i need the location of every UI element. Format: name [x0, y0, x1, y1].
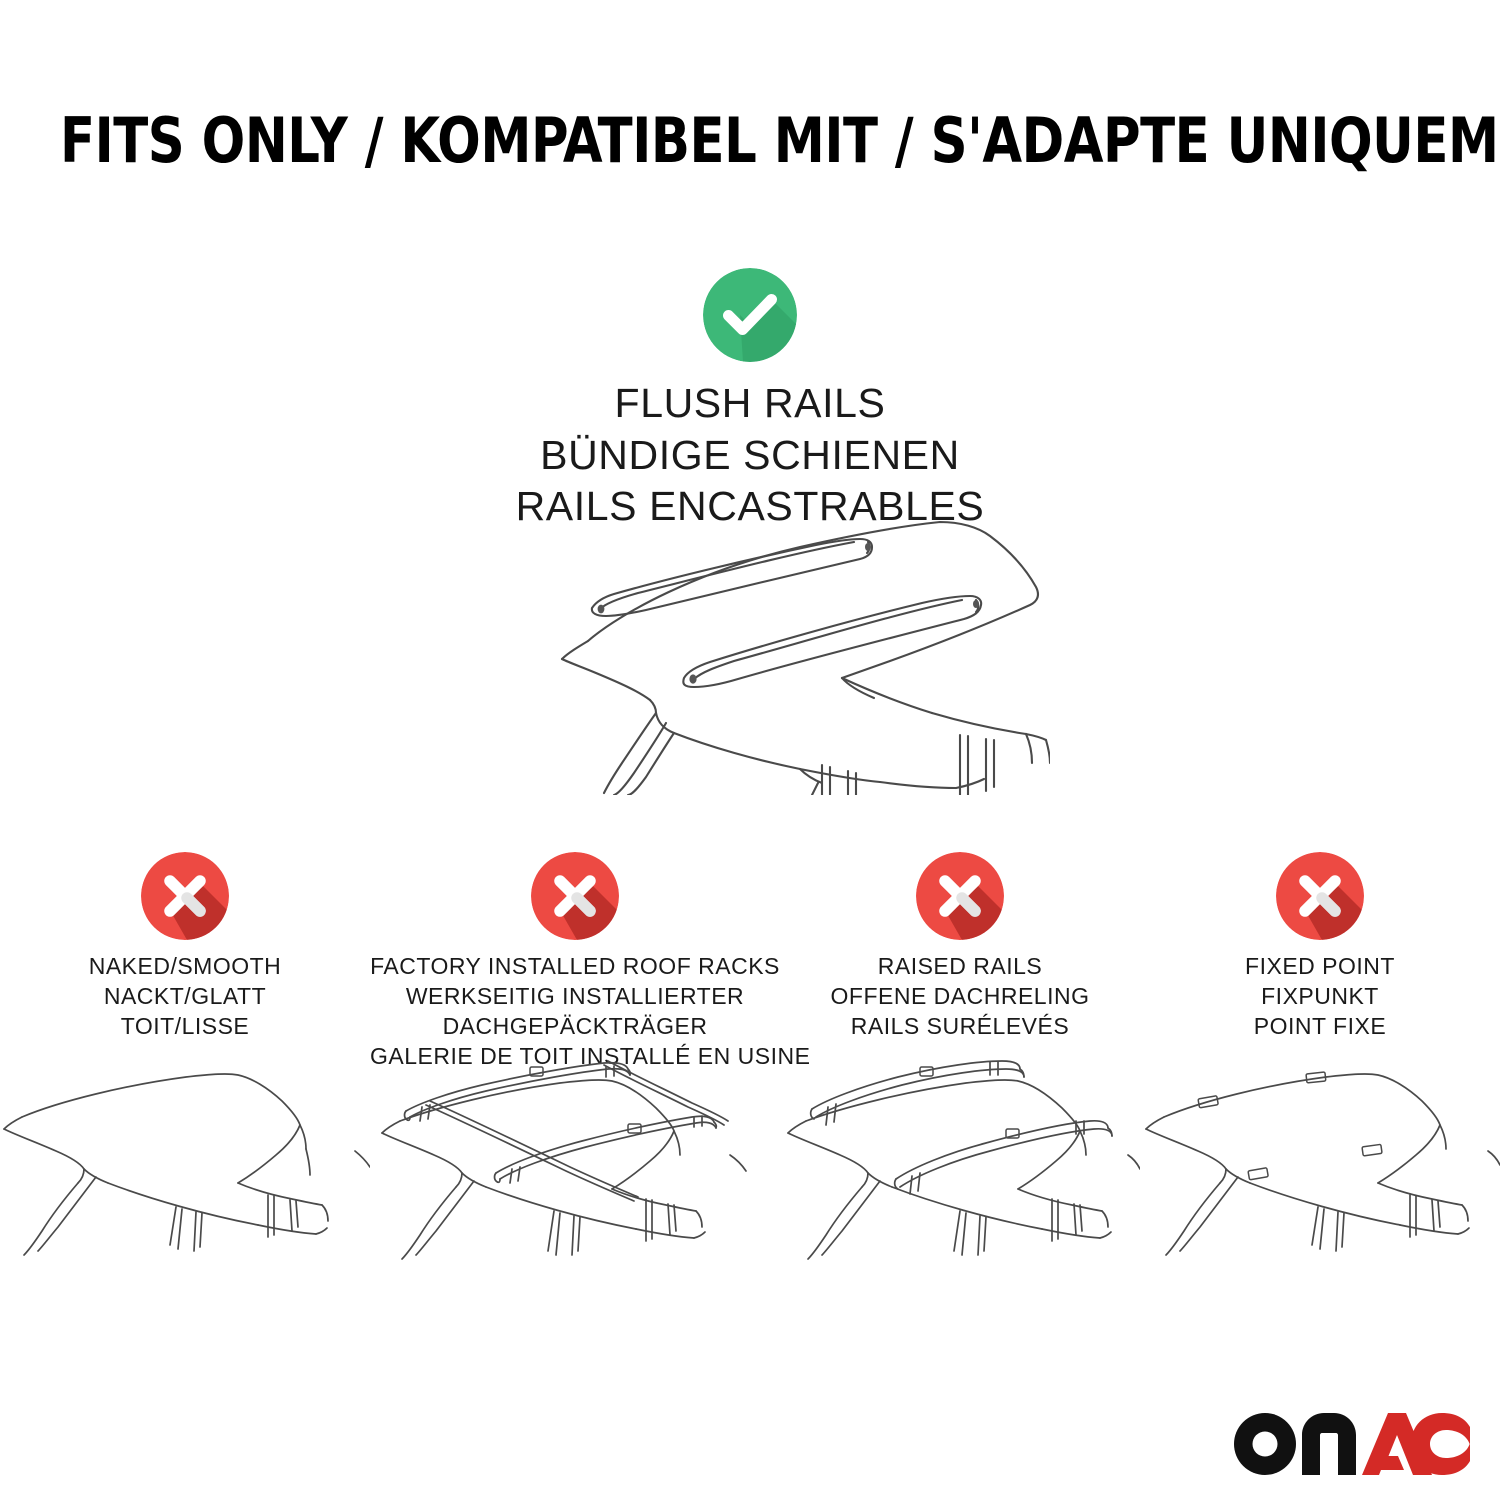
x-circle-icon — [141, 852, 229, 940]
x-circle-icon — [916, 852, 1004, 940]
logo-letter-c — [1411, 1413, 1470, 1475]
label-line: TOIT/LISSE — [0, 1012, 370, 1042]
incompatible-column-raised-rails: RAISED RAILS OFFENE DACHRELING RAILS SUR… — [780, 852, 1140, 1042]
label-line: RAILS SURÉLEVÉS — [780, 1012, 1140, 1042]
x-circle-icon — [1276, 852, 1364, 940]
label-line: NACKT/GLATT — [0, 982, 370, 1012]
label-line: FIXPUNKT — [1140, 982, 1500, 1012]
incompatible-illustration-row — [0, 1055, 1500, 1280]
x-circle-svg — [141, 852, 229, 940]
car-roof-naked-smooth-illustration — [0, 1055, 370, 1280]
car-roof-flush-rails-svg — [470, 495, 1050, 795]
compatible-label-line-1: FLUSH RAILS — [0, 378, 1500, 430]
incompatible-label-fixed-point: FIXED POINT FIXPUNKT POINT FIXE — [1140, 952, 1500, 1042]
car-roof-factory-roof-racks-svg — [370, 1055, 780, 1275]
label-line: RAISED RAILS — [780, 952, 1140, 982]
check-circle-svg — [703, 268, 797, 362]
omac-logo-svg — [1234, 1413, 1470, 1475]
label-line: WERKSEITIG INSTALLIERTER — [370, 982, 780, 1012]
incompatible-row: NAKED/SMOOTH NACKT/GLATT TOIT/LISSE — [0, 852, 1500, 1072]
logo-letter-o — [1234, 1413, 1296, 1475]
label-line: OFFENE DACHRELING — [780, 982, 1140, 1012]
label-line: DACHGEPÄCKTRÄGER — [370, 1012, 780, 1042]
logo-letter-m — [1302, 1413, 1356, 1475]
incompatible-label-raised-rails: RAISED RAILS OFFENE DACHRELING RAILS SUR… — [780, 952, 1140, 1042]
incompatible-label-naked-smooth: NAKED/SMOOTH NACKT/GLATT TOIT/LISSE — [0, 952, 370, 1042]
compatible-label-line-2: BÜNDIGE SCHIENEN — [0, 430, 1500, 482]
check-circle-icon — [703, 268, 797, 362]
fixed-point-covers — [1198, 1072, 1382, 1180]
page-title: FITS ONLY / KOMPATIBEL MIT / S'ADAPTE UN… — [60, 104, 1440, 177]
incompatible-column-fixed-point: FIXED POINT FIXPUNKT POINT FIXE — [1140, 852, 1500, 1042]
car-roof-raised-rails-svg — [780, 1055, 1140, 1275]
car-roof-raised-rails-illustration — [780, 1055, 1140, 1280]
car-roof-fixed-point-svg — [1140, 1055, 1500, 1275]
x-circle-icon — [531, 852, 619, 940]
car-roof-naked-smooth-svg — [0, 1055, 370, 1275]
infographic-page: FITS ONLY / KOMPATIBEL MIT / S'ADAPTE UN… — [0, 0, 1500, 1500]
x-circle-svg — [531, 852, 619, 940]
incompatible-column-naked-smooth: NAKED/SMOOTH NACKT/GLATT TOIT/LISSE — [0, 852, 370, 1042]
omac-logo — [1234, 1413, 1470, 1475]
label-line: FACTORY INSTALLED ROOF RACKS — [370, 952, 780, 982]
label-line: FIXED POINT — [1140, 952, 1500, 982]
incompatible-label-factory-roof-racks: FACTORY INSTALLED ROOF RACKS WERKSEITIG … — [370, 952, 780, 1072]
label-line: POINT FIXE — [1140, 1012, 1500, 1042]
incompatible-column-factory-roof-racks: FACTORY INSTALLED ROOF RACKS WERKSEITIG … — [370, 852, 780, 1072]
x-circle-svg — [1276, 852, 1364, 940]
compatible-block: FLUSH RAILS BÜNDIGE SCHIENEN RAILS ENCAS… — [0, 268, 1500, 533]
x-circle-svg — [916, 852, 1004, 940]
car-roof-fixed-point-illustration — [1140, 1055, 1500, 1280]
car-roof-flush-rails-illustration — [470, 495, 1050, 795]
car-roof-factory-roof-racks-illustration — [370, 1055, 780, 1280]
label-line: NAKED/SMOOTH — [0, 952, 370, 982]
